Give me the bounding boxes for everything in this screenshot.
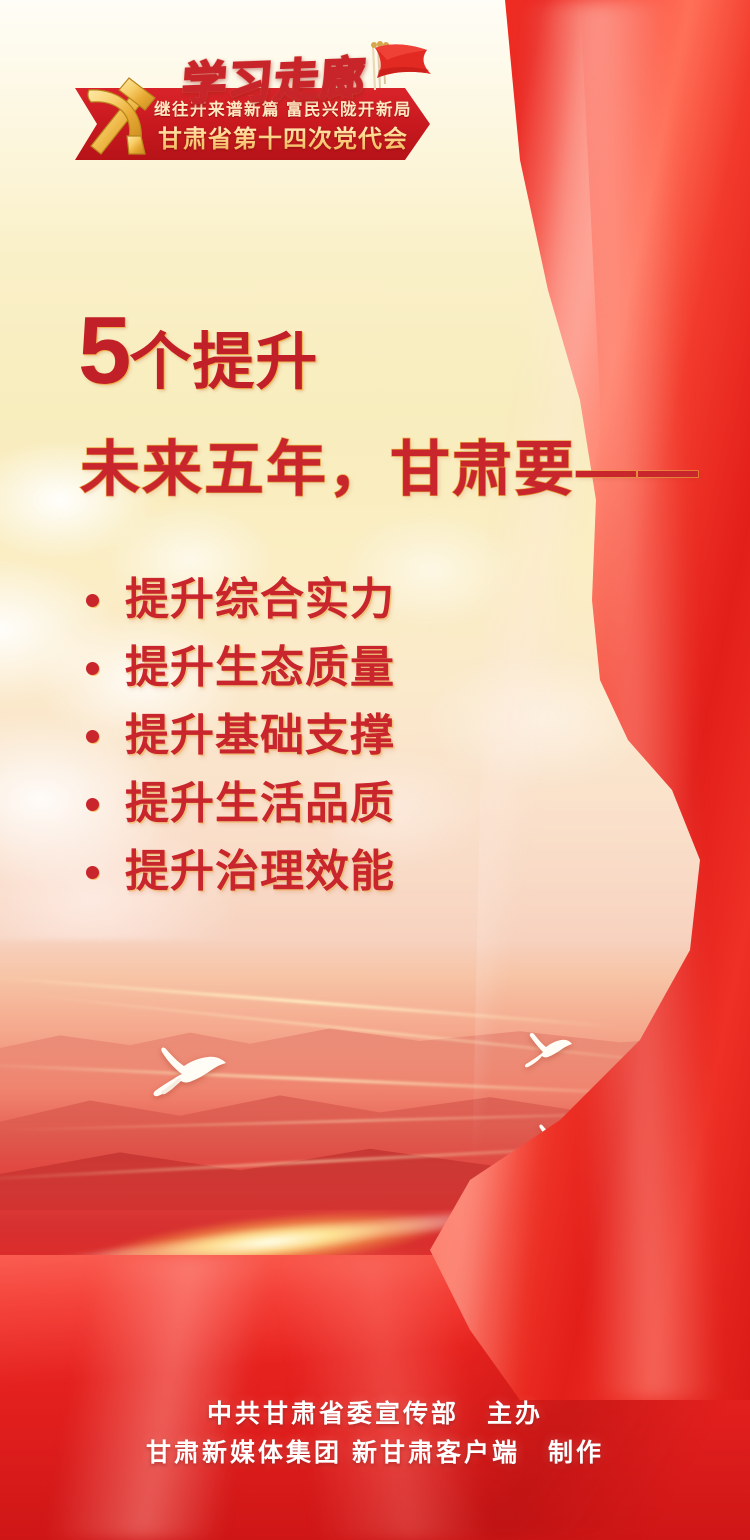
page-title: 5个提升 <box>78 303 318 399</box>
header-banner: 继往开来谱新篇 富民兴陇开新局 甘肃省第十四次党代会 <box>75 40 445 165</box>
headline-number: 5 <box>78 297 129 404</box>
list-item: 提升综合实力 <box>86 568 516 632</box>
list-item: 提升治理效能 <box>86 840 516 904</box>
list-item-label: 提升基础支撑 <box>125 714 395 758</box>
list-item: 提升基础支撑 <box>86 704 516 768</box>
bullet-list: 提升综合实力 提升生态质量 提升基础支撑 提升生活品质 提升治理效能 <box>86 568 516 908</box>
list-item-label: 提升生态质量 <box>125 646 395 690</box>
dove-left-large <box>138 1040 234 1102</box>
headline-text: 个提升 <box>129 328 318 397</box>
red-flag-icon <box>365 40 435 96</box>
poster-canvas: 继往开来谱新篇 富民兴陇开新局 甘肃省第十四次党代会 <box>0 0 750 1540</box>
banner-subtitle-congress: 甘肃省第十四次党代会 <box>147 119 419 154</box>
calligraphy-title: 学习走廊 <box>181 42 386 105</box>
footer-line-sponsor: 中共甘肃省委宣传部 主办 <box>0 1395 750 1434</box>
bullet-dot-icon <box>86 730 99 743</box>
bullet-dot-icon <box>86 798 99 811</box>
bullet-dot-icon <box>86 662 99 675</box>
party-emblem-icon <box>75 70 161 162</box>
list-item-label: 提升生活品质 <box>125 782 395 826</box>
page-subtitle: 未来五年，甘肃要—— <box>80 440 700 500</box>
bullet-dot-icon <box>86 594 99 607</box>
list-item: 提升生态质量 <box>86 636 516 700</box>
list-item-label: 提升综合实力 <box>125 578 395 622</box>
list-item: 提升生活品质 <box>86 772 516 836</box>
list-item-label: 提升治理效能 <box>125 850 395 894</box>
bullet-dot-icon <box>86 866 99 879</box>
footer-credits: 中共甘肃省委宣传部 主办 甘肃新媒体集团 新甘肃客户端 制作 <box>0 1395 750 1473</box>
footer-line-producer: 甘肃新媒体集团 新甘肃客户端 制作 <box>0 1434 750 1473</box>
